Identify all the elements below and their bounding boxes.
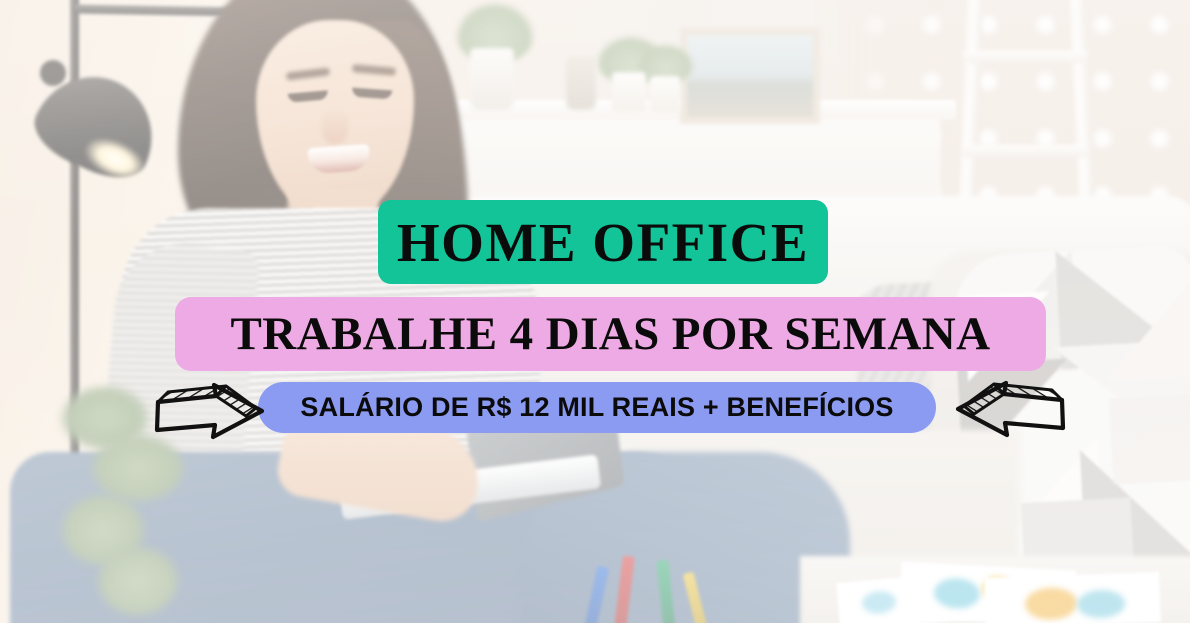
- arrow-left-icon: [950, 378, 1070, 442]
- chart-paper: [984, 572, 1161, 623]
- headline-banner-home-office: HOME OFFICE: [378, 200, 828, 284]
- vase: [470, 48, 514, 110]
- floor-lamp-joint: [40, 60, 66, 86]
- headline-text: HOME OFFICE: [397, 211, 809, 274]
- subheadline-text: TRABALHE 4 DIAS POR SEMANA: [231, 307, 991, 361]
- picture-frame-art: [687, 35, 813, 117]
- subheadline-banner-work-days: TRABALHE 4 DIAS POR SEMANA: [175, 297, 1046, 371]
- arrow-right-icon: [150, 380, 270, 442]
- woman-nose: [322, 108, 348, 144]
- picture-frame: [680, 28, 820, 124]
- ladder-rung: [963, 51, 1087, 63]
- vase: [612, 72, 646, 112]
- poster-canvas: HOME OFFICE TRABALHE 4 DIAS POR SEMANA S…: [0, 0, 1190, 623]
- vase: [650, 76, 680, 112]
- ladder-rung: [963, 145, 1087, 157]
- detail-text: SALÁRIO DE R$ 12 MIL REAIS + BENEFÍCIOS: [300, 392, 893, 423]
- detail-banner-salary: SALÁRIO DE R$ 12 MIL REAIS + BENEFÍCIOS: [258, 382, 936, 433]
- vase: [566, 56, 596, 110]
